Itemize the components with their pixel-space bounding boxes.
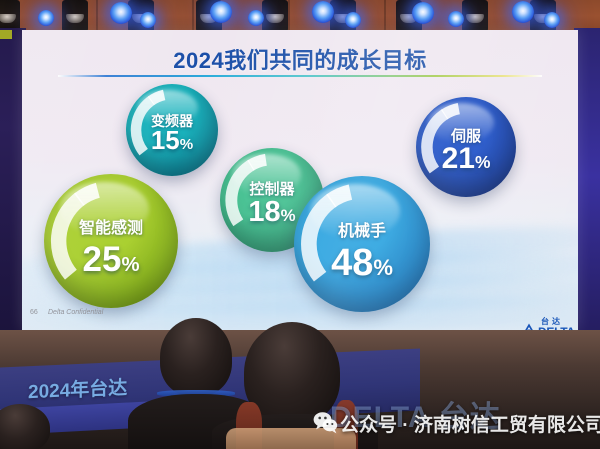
bubble-value-unit: % [373,255,393,280]
bubble-value: 15% [126,127,218,153]
audience-head-left [160,318,232,396]
bubble-value-unit: % [180,136,193,153]
bubble-value-number: 25 [83,240,122,279]
bubble-value-number: 48 [331,242,373,284]
watermark-text: 公众号 · 济南树信工贸有限公司 [340,410,600,437]
screenshot-root: 2024我们共同的成长目标 变频器15%控制器18%伺服21%智能感测25%机械… [0,0,600,449]
bubble-value-unit: % [121,254,139,276]
wechat-icon [312,409,338,435]
par-light [110,2,132,24]
par-light [345,12,361,28]
confidential-note: Delta Confidential [48,309,103,316]
bubble-value: 48% [294,244,430,282]
bubble-label: 机械手 [294,224,430,240]
bubble-robot-arm[interactable]: 机械手48% [294,176,430,312]
moving-head-light [62,0,88,34]
bubble-label: 控制器 [220,182,324,197]
bubble-smart-sensing[interactable]: 智能感测25% [44,174,178,308]
bubble-value-number: 18 [248,196,280,228]
moving-head-light [462,0,488,34]
par-light [210,1,232,23]
bubble-value: 21% [416,144,516,174]
wall-yellow-strip [0,30,12,39]
bubble-value-number: 21 [442,142,475,175]
par-light [412,2,434,24]
bubble-servo[interactable]: 伺服21% [416,97,516,197]
page-number: 66 [30,309,38,316]
bubble-value-number: 15 [151,125,180,155]
par-light [248,10,264,26]
bubble-value-unit: % [281,206,296,225]
bubble-value-unit: % [475,152,490,172]
par-light [544,12,560,28]
par-light [312,1,334,23]
bubble-label: 智能感测 [44,221,178,237]
par-light [448,11,464,27]
title-divider [58,75,542,77]
par-light [512,1,534,23]
moving-head-light [262,0,288,34]
bubble-inverter[interactable]: 变频器15% [126,84,218,176]
bubble-value: 25% [44,242,178,277]
par-light [38,10,54,26]
par-light [140,12,156,28]
projected-slide: 2024我们共同的成长目标 变频器15%控制器18%伺服21%智能感测25%机械… [22,30,578,330]
slide-title: 2024我们共同的成长目标 [22,43,578,75]
